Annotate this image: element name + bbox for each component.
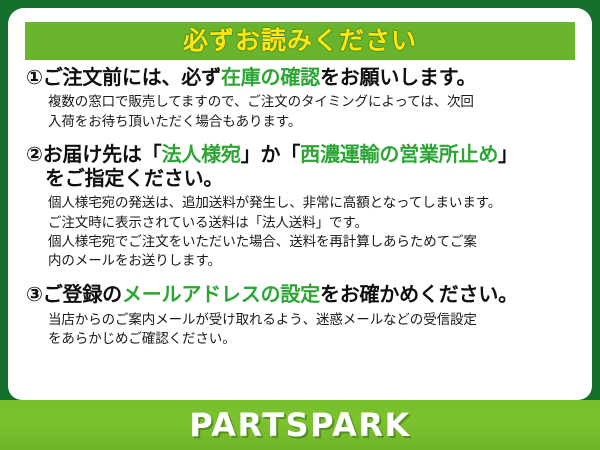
item-3-part-2: をお確かめください。 xyxy=(320,284,518,306)
item-3-body-line-1: をあらかじめご確認ください。 xyxy=(48,329,574,348)
notice-item-1-heading: ①ご注文前には、必ず在庫の確認をお願いします。 xyxy=(26,66,574,90)
notice-panel: 必ずお読みください ①ご注文前には、必ず在庫の確認をお願いします。 複数の窓口で… xyxy=(8,8,592,400)
title-banner: 必ずお読みください xyxy=(25,22,575,60)
page-title: 必ずお読みください xyxy=(183,29,417,54)
item-1-body-line-1: 入荷をお待ち頂いただく場合もあります。 xyxy=(48,112,574,131)
item-2-body-line-0: 個人様宅宛の発送は、追加送料が発生し、非常に高額となってしまいます。 xyxy=(48,193,574,212)
notice-frame: 必ずお読みください ①ご注文前には、必ず在庫の確認をお願いします。 複数の窓口で… xyxy=(0,0,600,450)
item-2-part-2: 」か「 xyxy=(241,144,300,166)
item-2-body-line-2: 個人様宅宛でご注文をいただいた場合、送料を再計算しあらためてご案 xyxy=(48,232,574,251)
notice-item-3-body: 当店からのご案内メールが受け取れるよう、迷惑メールなどの受信設定 をあらかじめご… xyxy=(26,310,574,348)
notice-item-2-heading-line2: をご指定ください。 xyxy=(26,167,574,191)
brand-logo: PARTSPARK xyxy=(189,409,411,441)
item-marker-1: ① xyxy=(26,67,43,89)
item-2-body-line-3: 内のメールをお送りします。 xyxy=(48,251,574,270)
item-2-part-0: お届け先は「 xyxy=(43,144,162,166)
notice-item-3-heading: ③ご登録のメールアドレスの設定をお確かめください。 xyxy=(26,283,574,307)
notice-item-3: ③ご登録のメールアドレスの設定をお確かめください。 当店からのご案内メールが受け… xyxy=(26,283,574,348)
notice-item-2: ②お届け先は「法人様宛」か「西濃運輸の営業所止め」 をご指定ください。 個人様宅… xyxy=(26,143,574,270)
item-2-body-line-1: ご注文時に表示されている送料は「法人送料」です。 xyxy=(48,213,574,232)
footer-bar: PARTSPARK xyxy=(0,400,600,450)
notice-item-1-body: 複数の窓口で販売してますので、ご注文のタイミングによっては、次回 入荷をお待ち頂… xyxy=(26,92,574,130)
notice-item-2-body: 個人様宅宛の発送は、追加送料が発生し、非常に高額となってしまいます。 ご注文時に… xyxy=(26,193,574,270)
item-3-part-1-highlight: メールアドレスの設定 xyxy=(122,284,320,306)
item-marker-2: ② xyxy=(26,144,43,166)
notice-item-2-heading: ②お届け先は「法人様宛」か「西濃運輸の営業所止め」 をご指定ください。 xyxy=(26,143,574,192)
item-marker-3: ③ xyxy=(26,284,43,306)
item-3-part-0: ご登録の xyxy=(43,284,122,306)
item-1-part-0: ご注文前には、必ず xyxy=(43,67,221,89)
item-1-part-1-highlight: 在庫の確認 xyxy=(221,67,320,89)
item-1-body-line-0: 複数の窓口で販売してますので、ご注文のタイミングによっては、次回 xyxy=(48,92,574,111)
item-2-part-1-highlight: 法人様宛 xyxy=(162,144,241,166)
item-2-part-4: 」 xyxy=(498,144,518,166)
notice-item-list: ①ご注文前には、必ず在庫の確認をお願いします。 複数の窓口で販売してますので、ご… xyxy=(22,66,578,348)
notice-item-1: ①ご注文前には、必ず在庫の確認をお願いします。 複数の窓口で販売してますので、ご… xyxy=(26,66,574,131)
item-2-part-3-highlight: 西濃運輸の営業所止め xyxy=(300,144,498,166)
item-3-body-line-0: 当店からのご案内メールが受け取れるよう、迷惑メールなどの受信設定 xyxy=(48,310,574,329)
item-1-part-2: をお願いします。 xyxy=(320,67,476,89)
